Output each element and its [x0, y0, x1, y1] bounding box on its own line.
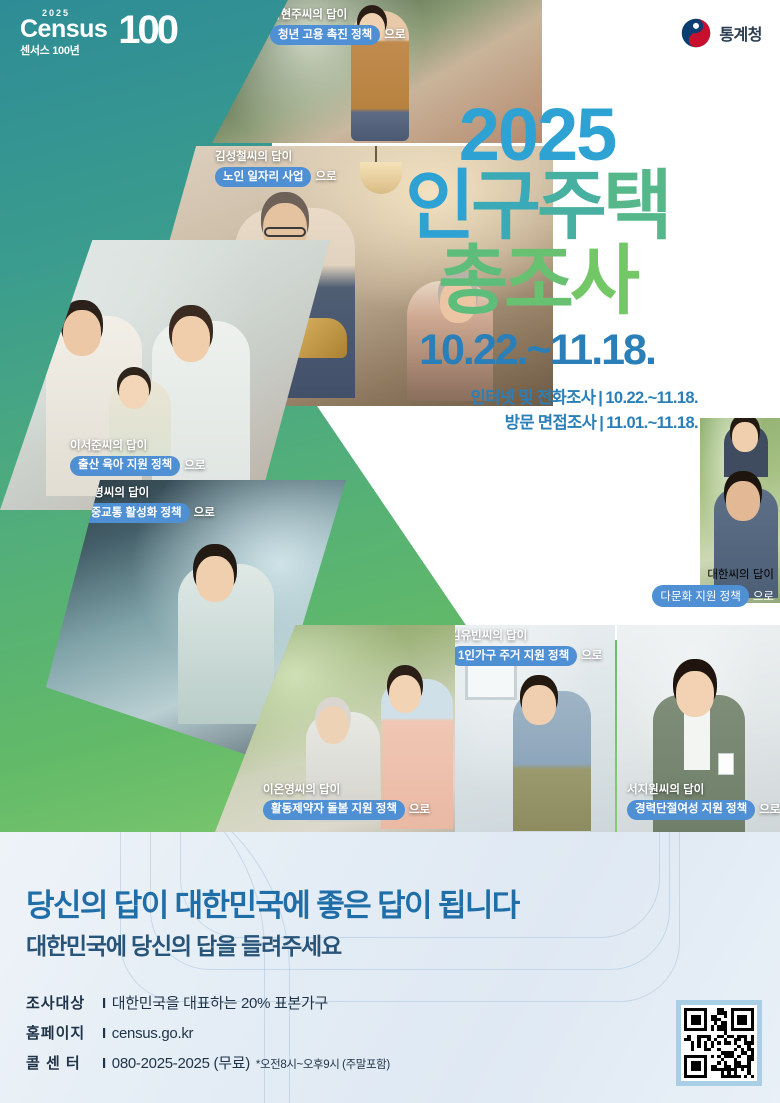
- father-face: [726, 481, 760, 521]
- photo-caption: 박현주씨의 답이 청년 고용 촉진 정책 으로: [270, 8, 405, 45]
- caption-policy-badge: 출산 육아 지원 정책: [70, 456, 180, 476]
- qr-code-grid: [684, 1008, 754, 1078]
- slogan-main: 당신의 답이 대한민국에 좋은 답이 됩니다: [26, 880, 519, 925]
- title-period: 10.22.~11.18.: [372, 329, 702, 372]
- caption-person: 서지원씨의 답이: [627, 783, 780, 797]
- info-label: 콜 센 터: [26, 1052, 100, 1073]
- title-line-1: 인구주택: [372, 170, 702, 244]
- caption-tail: 으로: [184, 459, 205, 473]
- caption-tail: 으로: [315, 170, 336, 184]
- father-face: [63, 310, 101, 356]
- slogan-sub: 대한민국에 당신의 답을 들려주세요: [26, 927, 341, 961]
- photo-collage: 박현주씨의 답이 청년 고용 촉진 정책 으로 김성철씨의 답이 노인 일자리 …: [0, 0, 780, 832]
- qr-code[interactable]: [676, 1000, 762, 1086]
- caregiver-face: [389, 675, 421, 713]
- child-face: [732, 422, 758, 452]
- id-badge-icon: [718, 753, 734, 775]
- method-dates: 10.22.~11.18.: [605, 389, 698, 407]
- info-label: 홈페이지: [26, 1022, 100, 1043]
- glasses-icon: [264, 227, 306, 237]
- person-face: [196, 556, 234, 602]
- senior-face: [317, 706, 349, 744]
- caption-policy-badge: 활동제약자 돌봄 지원 정책: [263, 800, 405, 820]
- survey-method-row: 방문 면접조사|11.01.~11.18.: [372, 411, 698, 436]
- photo-caption: 대한씨의 답이 다문화 지원 정책 으로: [652, 566, 774, 607]
- info-note: *오전8시~오후9시 (주말포함): [256, 1056, 390, 1072]
- photo-caption: 김성철씨의 답이 노인 일자리 사업 으로: [215, 150, 337, 187]
- caption-tail: 으로: [753, 588, 774, 604]
- photo-caption: 이서준씨의 답이 출산 육아 지원 정책 으로: [70, 439, 205, 476]
- info-value: 대한민국을 대표하는 20% 표본가구: [112, 992, 328, 1013]
- method-sep: |: [596, 414, 606, 432]
- title-year: 2025: [372, 100, 702, 170]
- caption-policy-badge: 1인가구 주거 지원 정책: [455, 646, 577, 666]
- caption-policy-badge: 노인 일자리 사업: [215, 167, 311, 187]
- main-title-block: 2025 인구주택 총조사 10.22.~11.18. 인터넷 및 전화조사|1…: [372, 100, 702, 436]
- info-row-callcenter: 콜 센 터 I 080-2025-2025 (무료) *오전8시~오후9시 (주…: [26, 1052, 390, 1073]
- caption-tail: 으로: [384, 28, 405, 42]
- census-100-logo: 2025 Census 센서스 100년 100: [20, 8, 170, 60]
- photo-tile-single-household: 김유빈씨의 답이 1인가구 주거 지원 정책 으로: [455, 625, 615, 832]
- caption-policy-badge: 청년 고용 촉진 정책: [270, 25, 380, 45]
- info-sep: I: [100, 995, 112, 1012]
- gov-logo-label: 통계청: [719, 21, 762, 45]
- info-value: 080-2025-2025 (무료): [112, 1052, 250, 1073]
- method-sep: |: [595, 389, 605, 407]
- info-row-target: 조사대상 I 대한민국을 대표하는 20% 표본가구: [26, 992, 390, 1013]
- survey-method-row: 인터넷 및 전화조사|10.22.~11.18.: [372, 386, 698, 411]
- taegeuk-icon: [681, 18, 711, 48]
- info-sep: I: [100, 1055, 112, 1072]
- statistics-korea-logo: 통계청: [681, 18, 762, 48]
- photo-caption: 이온영씨의 답이 활동제약자 돌봄 지원 정책 으로: [263, 783, 430, 820]
- caption-tail: 으로: [194, 506, 215, 520]
- person-face: [522, 685, 556, 725]
- info-label: 조사대상: [26, 992, 100, 1013]
- caption-tail: 으로: [759, 803, 780, 817]
- caption-policy-badge: 다문화 지원 정책: [652, 585, 748, 607]
- method-label: 방문 면접조사: [505, 414, 596, 432]
- caption-person: 김성철씨의 답이: [215, 150, 337, 164]
- survey-methods: 인터넷 및 전화조사|10.22.~11.18. 방문 면접조사|11.01.~…: [372, 386, 702, 436]
- caption-tail: 으로: [581, 649, 602, 663]
- photo-caption: 서지원씨의 답이 경력단절여성 지원 정책 으로: [627, 783, 780, 820]
- caption-policy-badge: 경력단절여성 지원 정책: [627, 800, 755, 820]
- title-line-2: 총조사: [372, 245, 702, 319]
- caption-person: 김유빈씨의 답이: [455, 629, 602, 643]
- caption-person: 박현주씨의 답이: [270, 8, 405, 22]
- info-row-website: 홈페이지 I census.go.kr: [26, 1022, 390, 1043]
- website-link[interactable]: census.go.kr: [112, 1025, 193, 1042]
- qr-code-inner: [681, 1005, 757, 1081]
- photo-tile-family: 이서준씨의 답이 출산 육아 지원 정책 으로: [0, 240, 330, 510]
- caption-person: 대한씨의 답이: [652, 566, 774, 582]
- info-sep: I: [100, 1025, 112, 1042]
- method-label: 인터넷 및 전화조사: [471, 389, 596, 407]
- photo-tile-career-woman: 서지원씨의 답이 경력단절여성 지원 정책 으로: [617, 625, 780, 832]
- baby-face: [119, 375, 149, 409]
- person-face: [676, 671, 714, 717]
- census-poster: 박현주씨의 답이 청년 고용 촉진 정책 으로 김성철씨의 답이 노인 일자리 …: [0, 0, 780, 1103]
- caption-tail: 으로: [409, 803, 430, 817]
- mother-face: [172, 316, 210, 362]
- method-dates: 11.01.~11.18.: [606, 414, 698, 432]
- caption-person: 이온영씨의 답이: [263, 783, 430, 797]
- caption-person: 이서준씨의 답이: [70, 439, 205, 453]
- contact-info: 조사대상 I 대한민국을 대표하는 20% 표본가구 홈페이지 I census…: [26, 992, 390, 1082]
- photo-caption: 김유빈씨의 답이 1인가구 주거 지원 정책 으로: [455, 629, 602, 666]
- census-logo-anniversary: 100: [118, 10, 176, 50]
- bottom-section: 당신의 답이 대한민국에 좋은 답이 됩니다 대한민국에 당신의 답을 들려주세…: [0, 832, 780, 1103]
